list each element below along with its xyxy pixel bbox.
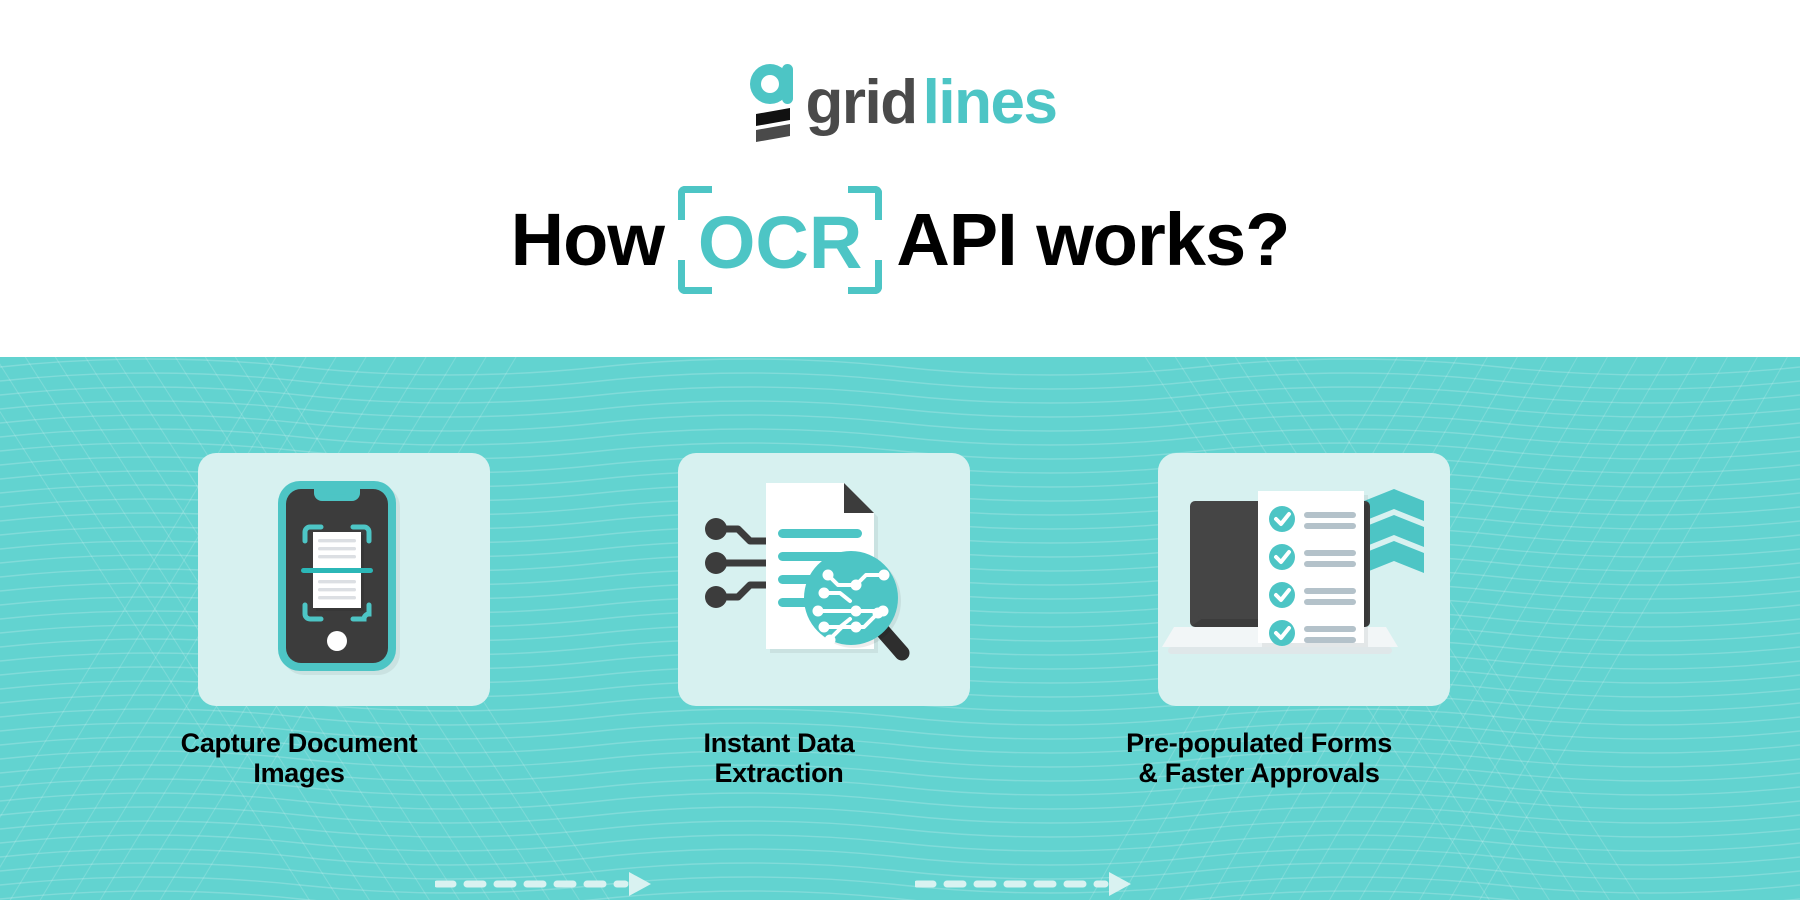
chevron-stack: [1364, 489, 1424, 573]
step-caption-approve: Pre-populated Forms & Faster Approvals: [1053, 729, 1465, 789]
process-flow: Capture Document Images: [0, 357, 1800, 900]
scan-corner-bottom-right-icon: [848, 260, 882, 294]
scan-corner-top-right-icon: [848, 186, 882, 220]
header-band: grid lines How OCR API works?: [0, 0, 1800, 357]
scan-corner-bottom-left-icon: [678, 260, 712, 294]
brand-name-secondary: lines: [923, 60, 1057, 146]
title-before: How: [511, 203, 664, 277]
ocr-scan-frame: OCR: [678, 186, 882, 294]
laptop-checklist-form-icon: [1158, 453, 1450, 706]
document-magnifier-circuit-icon: [678, 453, 970, 706]
phone-document-scan-icon: [198, 453, 490, 706]
scan-corner-top-left-icon: [678, 186, 712, 220]
title-highlight: OCR: [698, 200, 862, 280]
title-after: API works?: [896, 203, 1289, 277]
brand-name-primary: grid: [806, 60, 917, 146]
caption-line-1: Pre-populated Forms: [1053, 729, 1465, 759]
gridlines-g-mark-icon: [744, 60, 800, 146]
infographic-page: grid lines How OCR API works?: [0, 0, 1800, 900]
page-title: How OCR API works?: [0, 185, 1800, 295]
brand-logo: grid lines: [0, 58, 1800, 148]
caption-line-2: & Faster Approvals: [1053, 759, 1465, 789]
